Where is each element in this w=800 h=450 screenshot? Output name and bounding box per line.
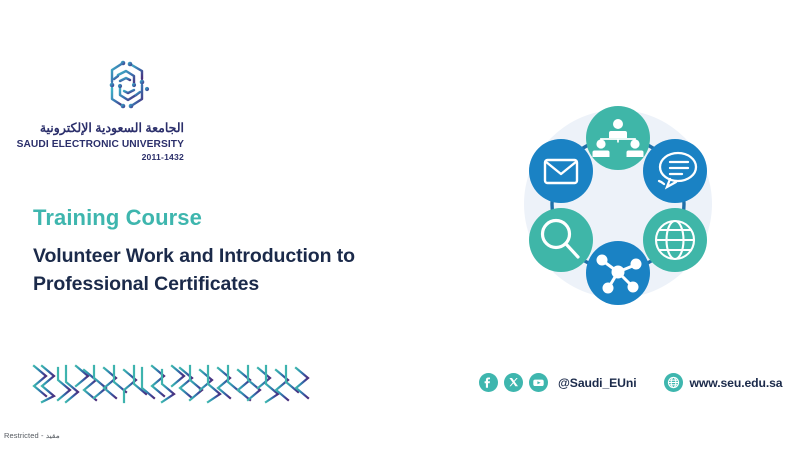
- people-hierarchy-icon: [586, 106, 650, 170]
- page-title: Volunteer Work and Introduction to Profe…: [33, 243, 463, 298]
- seu-hexagon-circuit-logo-icon: [92, 55, 164, 117]
- globe-icon: [643, 208, 707, 272]
- speech-bubbles-icon: [643, 139, 707, 203]
- course-eyebrow-label: Training Course: [33, 205, 463, 230]
- magnifier-icon: [529, 208, 593, 272]
- logo-years: 2011-1432: [14, 152, 194, 162]
- globe-icon[interactable]: [664, 373, 683, 392]
- university-logo: الجامعة السعودية الإلكترونية SAUDI ELECT…: [14, 55, 194, 162]
- presentation-slide: الجامعة السعودية الإلكترونية SAUDI ELECT…: [0, 0, 800, 450]
- youtube-icon[interactable]: [529, 373, 548, 392]
- restricted-classification-label: Restricted - مقيد: [4, 431, 60, 440]
- circular-infographic: [508, 92, 728, 322]
- circuit-maze-pattern-icon: [32, 362, 320, 409]
- title-block: Training Course Volunteer Work and Intro…: [33, 205, 463, 299]
- logo-english-name: SAUDI ELECTRONIC UNIVERSITY: [14, 138, 194, 151]
- footer-social-bar: @Saudi_EUni www.seu.edu.sa: [479, 373, 783, 392]
- molecule-network-icon: [586, 241, 650, 305]
- website-url-text: www.seu.edu.sa: [690, 376, 783, 390]
- envelope-icon: [529, 139, 593, 203]
- x-twitter-icon[interactable]: [504, 373, 523, 392]
- facebook-icon[interactable]: [479, 373, 498, 392]
- social-handle-text: @Saudi_EUni: [558, 376, 637, 390]
- logo-arabic-name: الجامعة السعودية الإلكترونية: [14, 121, 194, 137]
- website-group[interactable]: www.seu.edu.sa: [664, 373, 783, 392]
